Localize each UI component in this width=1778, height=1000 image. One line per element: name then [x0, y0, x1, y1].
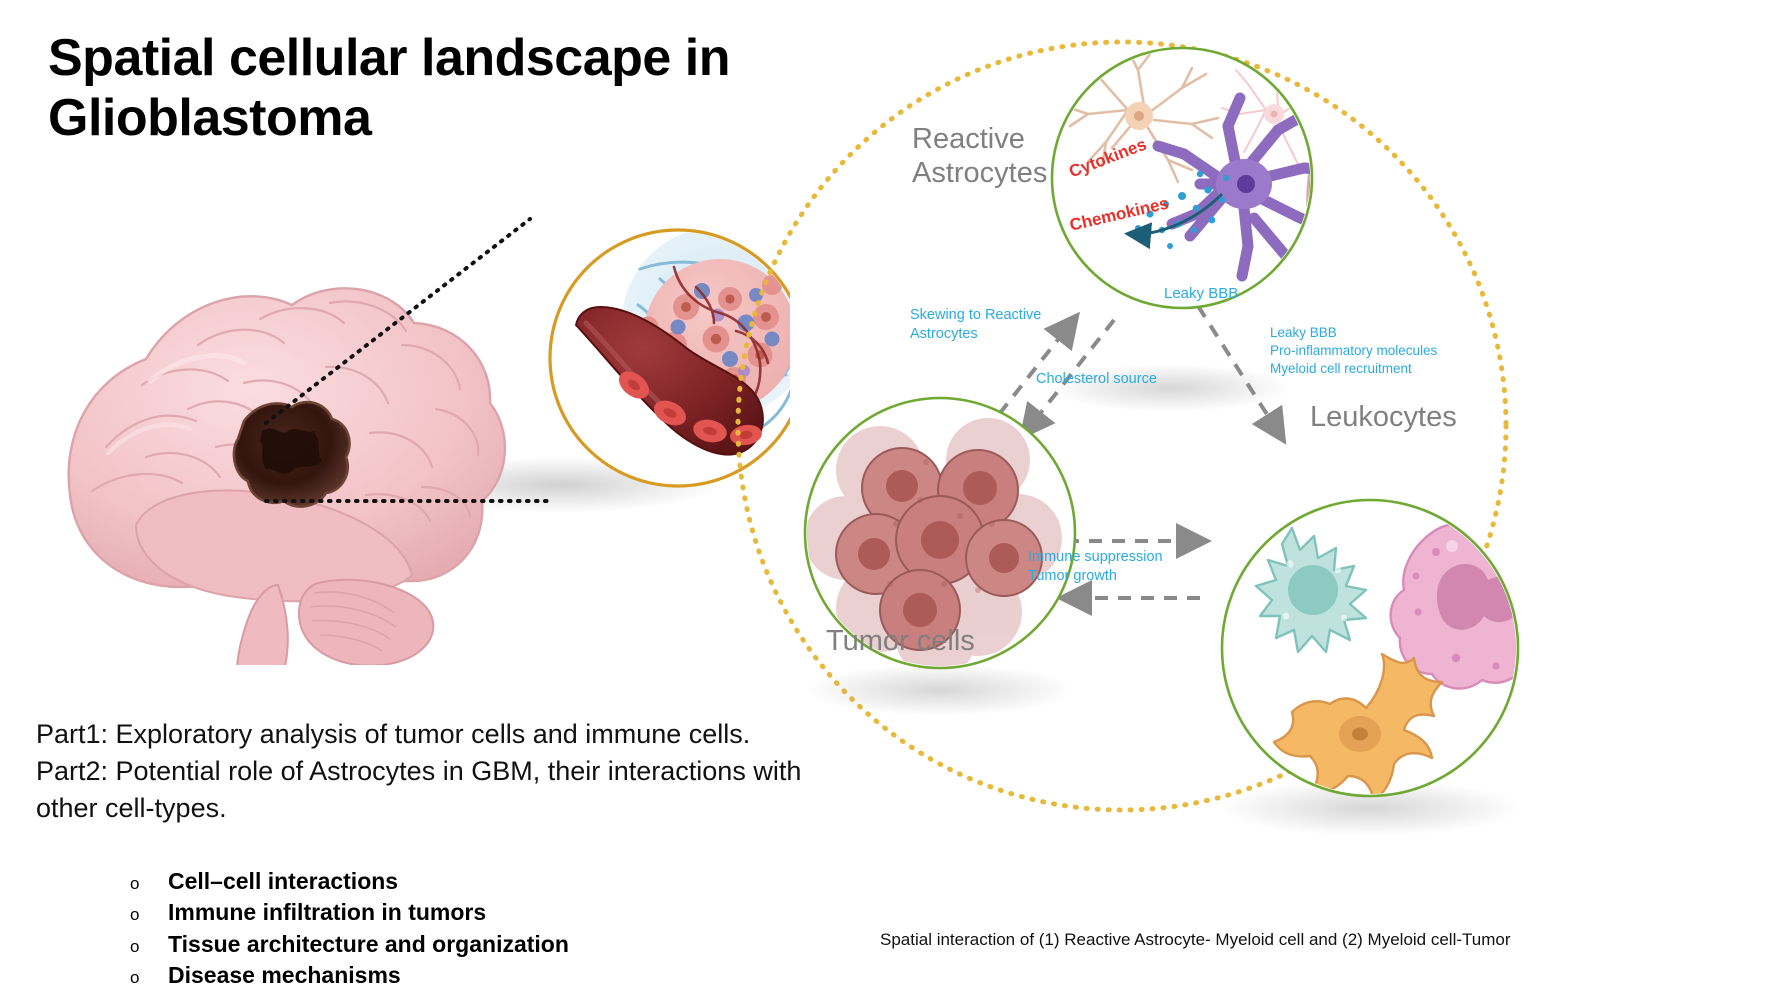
cell-interaction-diagram: Reactive Astrocytes Tumor cells Leukocyt… — [730, 18, 1770, 978]
bullet-marker-icon: o — [130, 935, 140, 958]
slide-root: Spatial cellular landscape in Glioblasto… — [0, 0, 1778, 1000]
annotation-cholesterol-source: Cholesterol source — [1036, 370, 1157, 389]
node-label-leukocytes: Leukocytes — [1310, 400, 1457, 434]
page-title: Spatial cellular landscape in Glioblasto… — [48, 28, 808, 149]
list-item-label: Cell–cell interactions — [168, 866, 398, 897]
list-item-label: Tissue architecture and organization — [168, 929, 569, 960]
part2-text: Part2: Potential role of Astrocytes in G… — [36, 753, 836, 827]
topic-bullet-list: o Cell–cell interactions o Immune infilt… — [130, 866, 830, 991]
title-line-2: Glioblastoma — [48, 88, 808, 148]
list-item: o Disease mechanisms — [130, 960, 830, 991]
reactive-astrocytes-circle — [1052, 48, 1420, 322]
bullet-marker-icon: o — [130, 872, 140, 895]
bullet-marker-icon: o — [130, 966, 140, 989]
list-item: o Immune infiltration in tumors — [130, 897, 830, 928]
part1-text: Part1: Exploratory analysis of tumor cel… — [36, 716, 836, 753]
list-item-label: Immune infiltration in tumors — [168, 897, 486, 928]
list-item: o Tissue architecture and organization — [130, 929, 830, 960]
list-item-label: Disease mechanisms — [168, 960, 401, 991]
bullet-marker-icon: o — [130, 903, 140, 926]
leukocytes-circle — [1222, 500, 1553, 800]
annotation-immune-suppression: Immune suppression Tumor growth — [1028, 548, 1163, 586]
annotation-skewing-to-reactive-astrocytes: Skewing to Reactive Astrocytes — [910, 306, 1041, 344]
node-label-reactive-astrocytes: Reactive Astrocytes — [912, 122, 1047, 190]
list-item: o Cell–cell interactions — [130, 866, 830, 897]
annotation-myeloid-recruitment: Leaky BBB Pro-inflammatory molecules Mye… — [1270, 324, 1437, 377]
parts-text: Part1: Exploratory analysis of tumor cel… — [36, 716, 836, 827]
diagram-caption: Spatial interaction of (1) Reactive Astr… — [880, 930, 1740, 950]
tumor-lesion — [234, 402, 350, 506]
brain-illustration — [30, 195, 790, 665]
diagram-canvas — [730, 18, 1770, 978]
node-label-tumor-cells: Tumor cells — [826, 624, 975, 658]
title-line-1: Spatial cellular landscape in — [48, 28, 808, 88]
inner-label-leaky-bbb: Leaky BBB — [1164, 285, 1238, 302]
